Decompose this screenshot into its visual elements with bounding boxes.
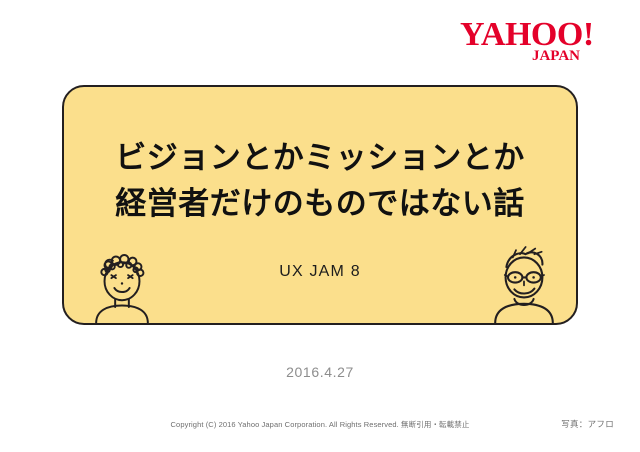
glasses-spiky-hair-man-illustration [484, 243, 564, 323]
yahoo-japan-logo: YAHOO! JAPAN [460, 20, 582, 66]
title-line-2: 経営者だけのものではない話 [64, 181, 576, 227]
photo-credit: 写真：アフロ [561, 418, 614, 430]
title-card: ビジョンとかミッションとか 経営者だけのものではない話 UX JAM 8 [62, 85, 578, 325]
page-title: ビジョンとかミッションとか 経営者だけのものではない話 [64, 135, 576, 227]
presentation-date: 2016.4.27 [0, 364, 640, 380]
curly-hair-smiling-woman-illustration [84, 247, 160, 323]
copyright-notice: Copyright (C) 2016 Yahoo Japan Corporati… [0, 419, 640, 430]
title-line-1: ビジョンとかミッションとか [64, 135, 576, 181]
yahoo-logo-wordmark: YAHOO! [460, 20, 582, 50]
